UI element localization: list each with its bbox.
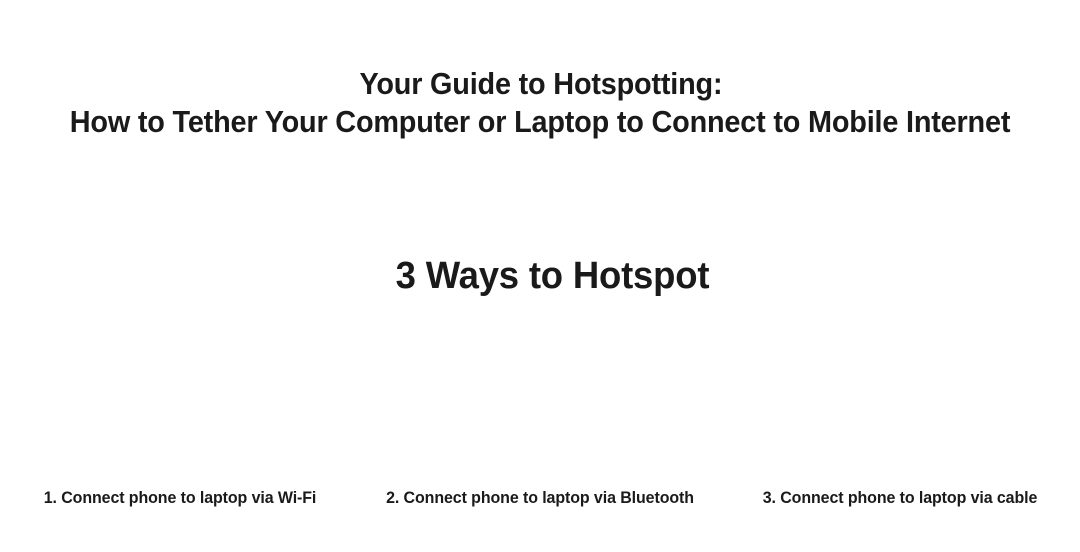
method-caption-wifi: 1. Connect phone to laptop via Wi-Fi (11, 487, 349, 509)
page-title-line-2: How to Tether Your Computer or Laptop to… (38, 103, 1042, 141)
page-title: Your Guide to Hotspotting: How to Tether… (38, 65, 1042, 141)
illustration-wifi (0, 285, 360, 475)
illustration-bluetooth (360, 285, 720, 475)
article-page: Your Guide to Hotspotting: How to Tether… (0, 0, 1080, 552)
method-caption-bluetooth: 2. Connect phone to laptop via Bluetooth (371, 487, 709, 509)
method-caption-cable: 3. Connect phone to laptop via cable (731, 487, 1069, 509)
illustration-cable (720, 285, 1080, 475)
method-caption-row: 1. Connect phone to laptop via Wi-Fi 2. … (0, 487, 1080, 509)
page-title-line-1: Your Guide to Hotspotting: (38, 65, 1042, 103)
illustration-band (0, 285, 1080, 475)
